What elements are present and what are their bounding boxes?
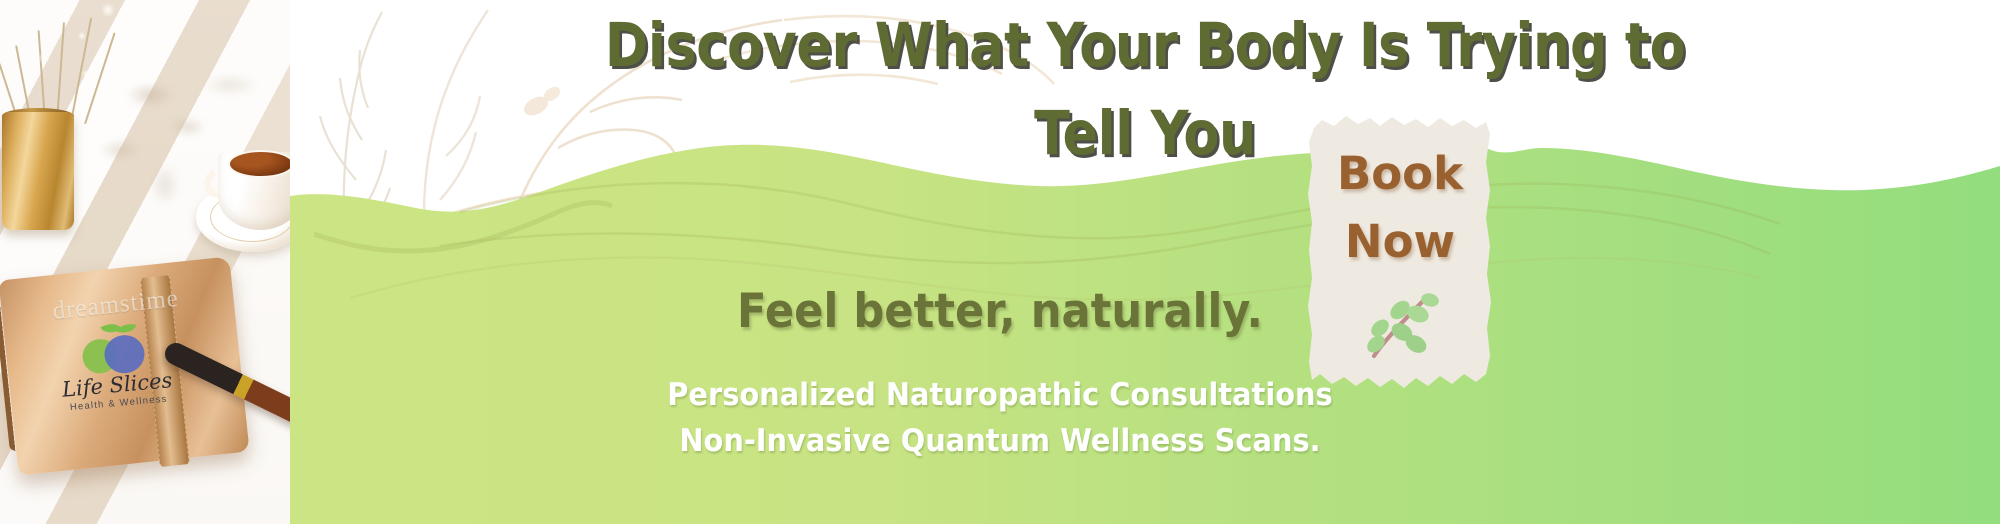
book-now-button[interactable]: Book Now <box>1300 112 1500 394</box>
banner-content: Discover What Your Body Is Trying to Tel… <box>290 0 2000 524</box>
leaf-icon <box>117 321 136 336</box>
brand-logo: Life Slices Health & Wellness <box>52 317 180 427</box>
lifestyle-photo: dreamstime Life Slices Health & Wellness <box>0 0 290 524</box>
page-title: Discover What Your Body Is Trying to Tel… <box>410 2 1881 178</box>
tea-liquid <box>228 150 290 178</box>
gold-vase-icon <box>2 112 74 230</box>
book-now-label: Book Now <box>1300 140 1500 276</box>
apple-plum-leaf-icon <box>76 319 152 377</box>
promo-banner: dreamstime Life Slices Health & Wellness <box>0 0 2000 524</box>
cta-line-2: Now <box>1300 208 1500 276</box>
service-line-2: Non-Invasive Quantum Wellness Scans. <box>340 418 1661 464</box>
cta-line-1: Book <box>1300 140 1500 208</box>
leaf-sprig-icon <box>1356 288 1446 362</box>
